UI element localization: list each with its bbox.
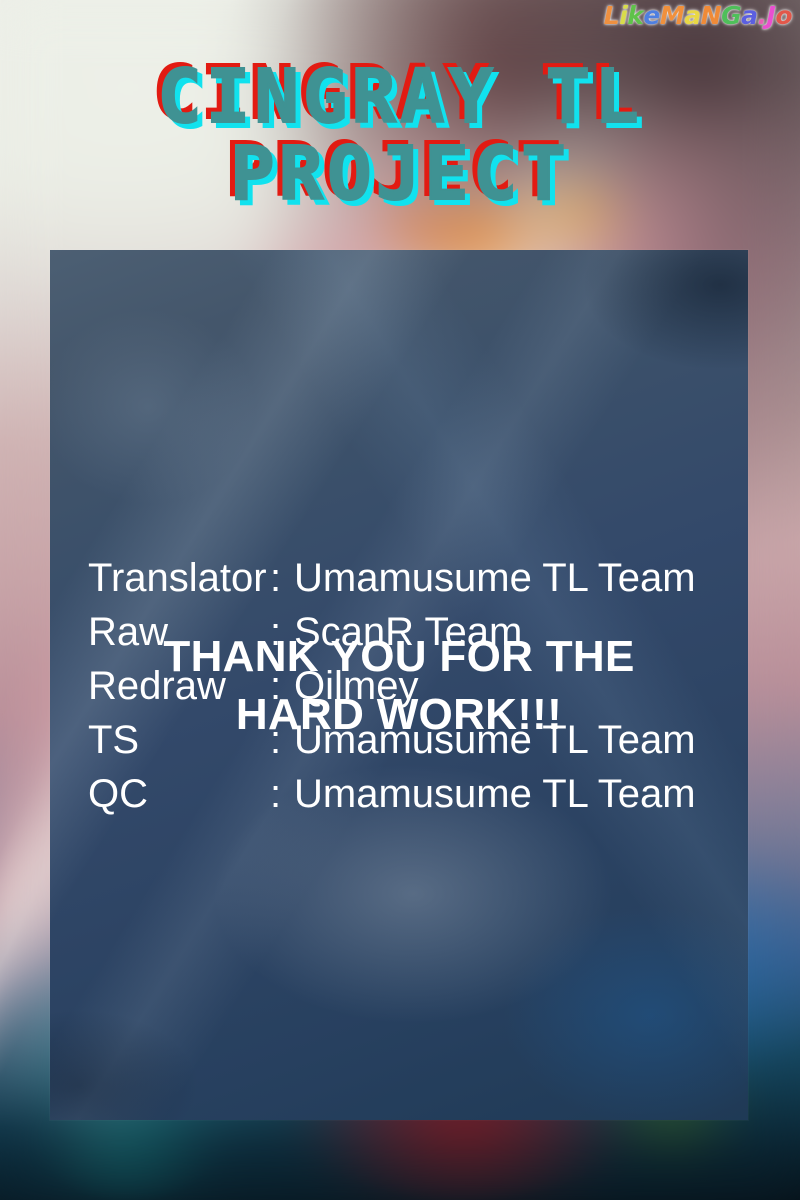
credit-role-label: Translator xyxy=(88,551,270,605)
credit-role-label: TS xyxy=(88,713,270,767)
watermark-letter-6: N xyxy=(701,3,721,28)
credit-value: Umamusume TL Team xyxy=(294,767,726,821)
watermark-letter-3: e xyxy=(643,3,659,28)
credits-list: Translator:Umamusume TL TeamRaw:ScanR Te… xyxy=(88,551,726,821)
watermark-letter-10: J xyxy=(767,3,776,28)
credit-role-label: QC xyxy=(88,767,270,821)
likemanga-watermark: LikeMaNGa.Jo xyxy=(604,3,792,28)
watermark-letter-8: a xyxy=(741,3,757,28)
watermark-letter-0: L xyxy=(604,3,619,28)
watermark-letter-9: . xyxy=(758,3,767,28)
credit-separator: : xyxy=(270,713,294,767)
group-title: CINGRAY TL CINGRAY TL CINGRAY TL PROJECT… xyxy=(0,62,800,210)
watermark-letter-11: o xyxy=(775,3,792,28)
credits-panel: THANK YOU FOR THE HARD WORK!!! Translato… xyxy=(50,250,748,1120)
credit-row: TS:Umamusume TL Team xyxy=(88,713,726,767)
credit-role-label: Redraw xyxy=(88,659,270,713)
manga-credits-page: LikeMaNGa.Jo CINGRAY TL CINGRAY TL CINGR… xyxy=(0,0,800,1200)
credit-row: Raw:ScanR Team xyxy=(88,605,726,659)
title-line-2-text: PROJECT xyxy=(0,139,800,210)
credit-row: QC:Umamusume TL Team xyxy=(88,767,726,821)
credit-role-label: Raw xyxy=(88,605,270,659)
title-line-2: PROJECT PROJECT PROJECT xyxy=(0,139,800,210)
credit-value: Umamusume TL Team xyxy=(294,713,726,767)
credit-separator: : xyxy=(270,605,294,659)
credit-row: Translator:Umamusume TL Team xyxy=(88,551,726,605)
title-line-1: CINGRAY TL CINGRAY TL CINGRAY TL xyxy=(0,62,800,133)
credit-value: Umamusume TL Team xyxy=(294,551,726,605)
credit-separator: : xyxy=(270,551,294,605)
watermark-letter-4: M xyxy=(660,3,684,28)
watermark-letter-2: k xyxy=(627,3,643,28)
credit-separator: : xyxy=(270,767,294,821)
credit-value: ScanR Team xyxy=(294,605,726,659)
panel-content: THANK YOU FOR THE HARD WORK!!! Translato… xyxy=(50,250,748,1120)
watermark-letter-7: G xyxy=(721,3,741,28)
watermark-letter-5: a xyxy=(684,3,700,28)
credit-separator: : xyxy=(270,659,294,713)
credit-value: Qilmey xyxy=(294,659,726,713)
title-line-1-text: CINGRAY TL xyxy=(0,62,800,133)
credit-row: Redraw:Qilmey xyxy=(88,659,726,713)
